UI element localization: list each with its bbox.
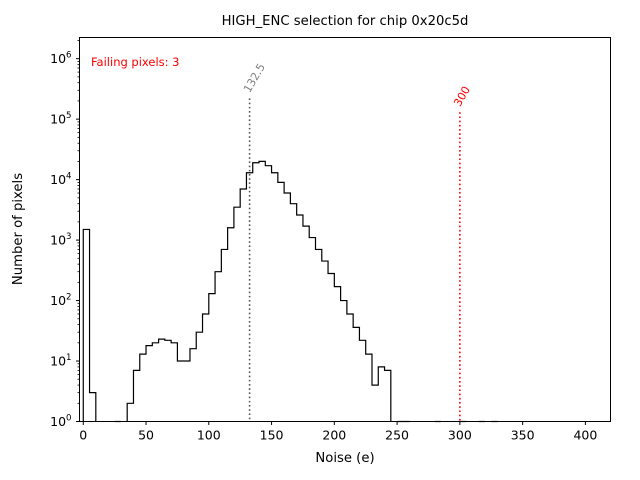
failing-pixels-annotation: Failing pixels: 3	[91, 55, 180, 69]
page-title: HIGH_ENC selection for chip 0x20c5d	[222, 14, 469, 29]
x-tick-label: 100	[197, 428, 221, 443]
x-tick-label: 150	[260, 428, 284, 443]
x-tick-label: 50	[138, 428, 154, 443]
x-tick-label: 350	[511, 428, 535, 443]
y-axis-label: Number of pixels	[11, 173, 26, 285]
x-axis-label: Noise (e)	[315, 451, 374, 466]
histogram-plot: HIGH_ENC selection for chip 0x20c5d 0501…	[0, 0, 640, 480]
x-tick-label: 250	[385, 428, 409, 443]
x-tick-label: 300	[448, 428, 472, 443]
matplotlib-figure: HIGH_ENC selection for chip 0x20c5d 0501…	[0, 0, 640, 480]
x-tick-label: 400	[573, 428, 597, 443]
x-tick-label: 0	[79, 428, 87, 443]
x-tick-label: 200	[322, 428, 346, 443]
